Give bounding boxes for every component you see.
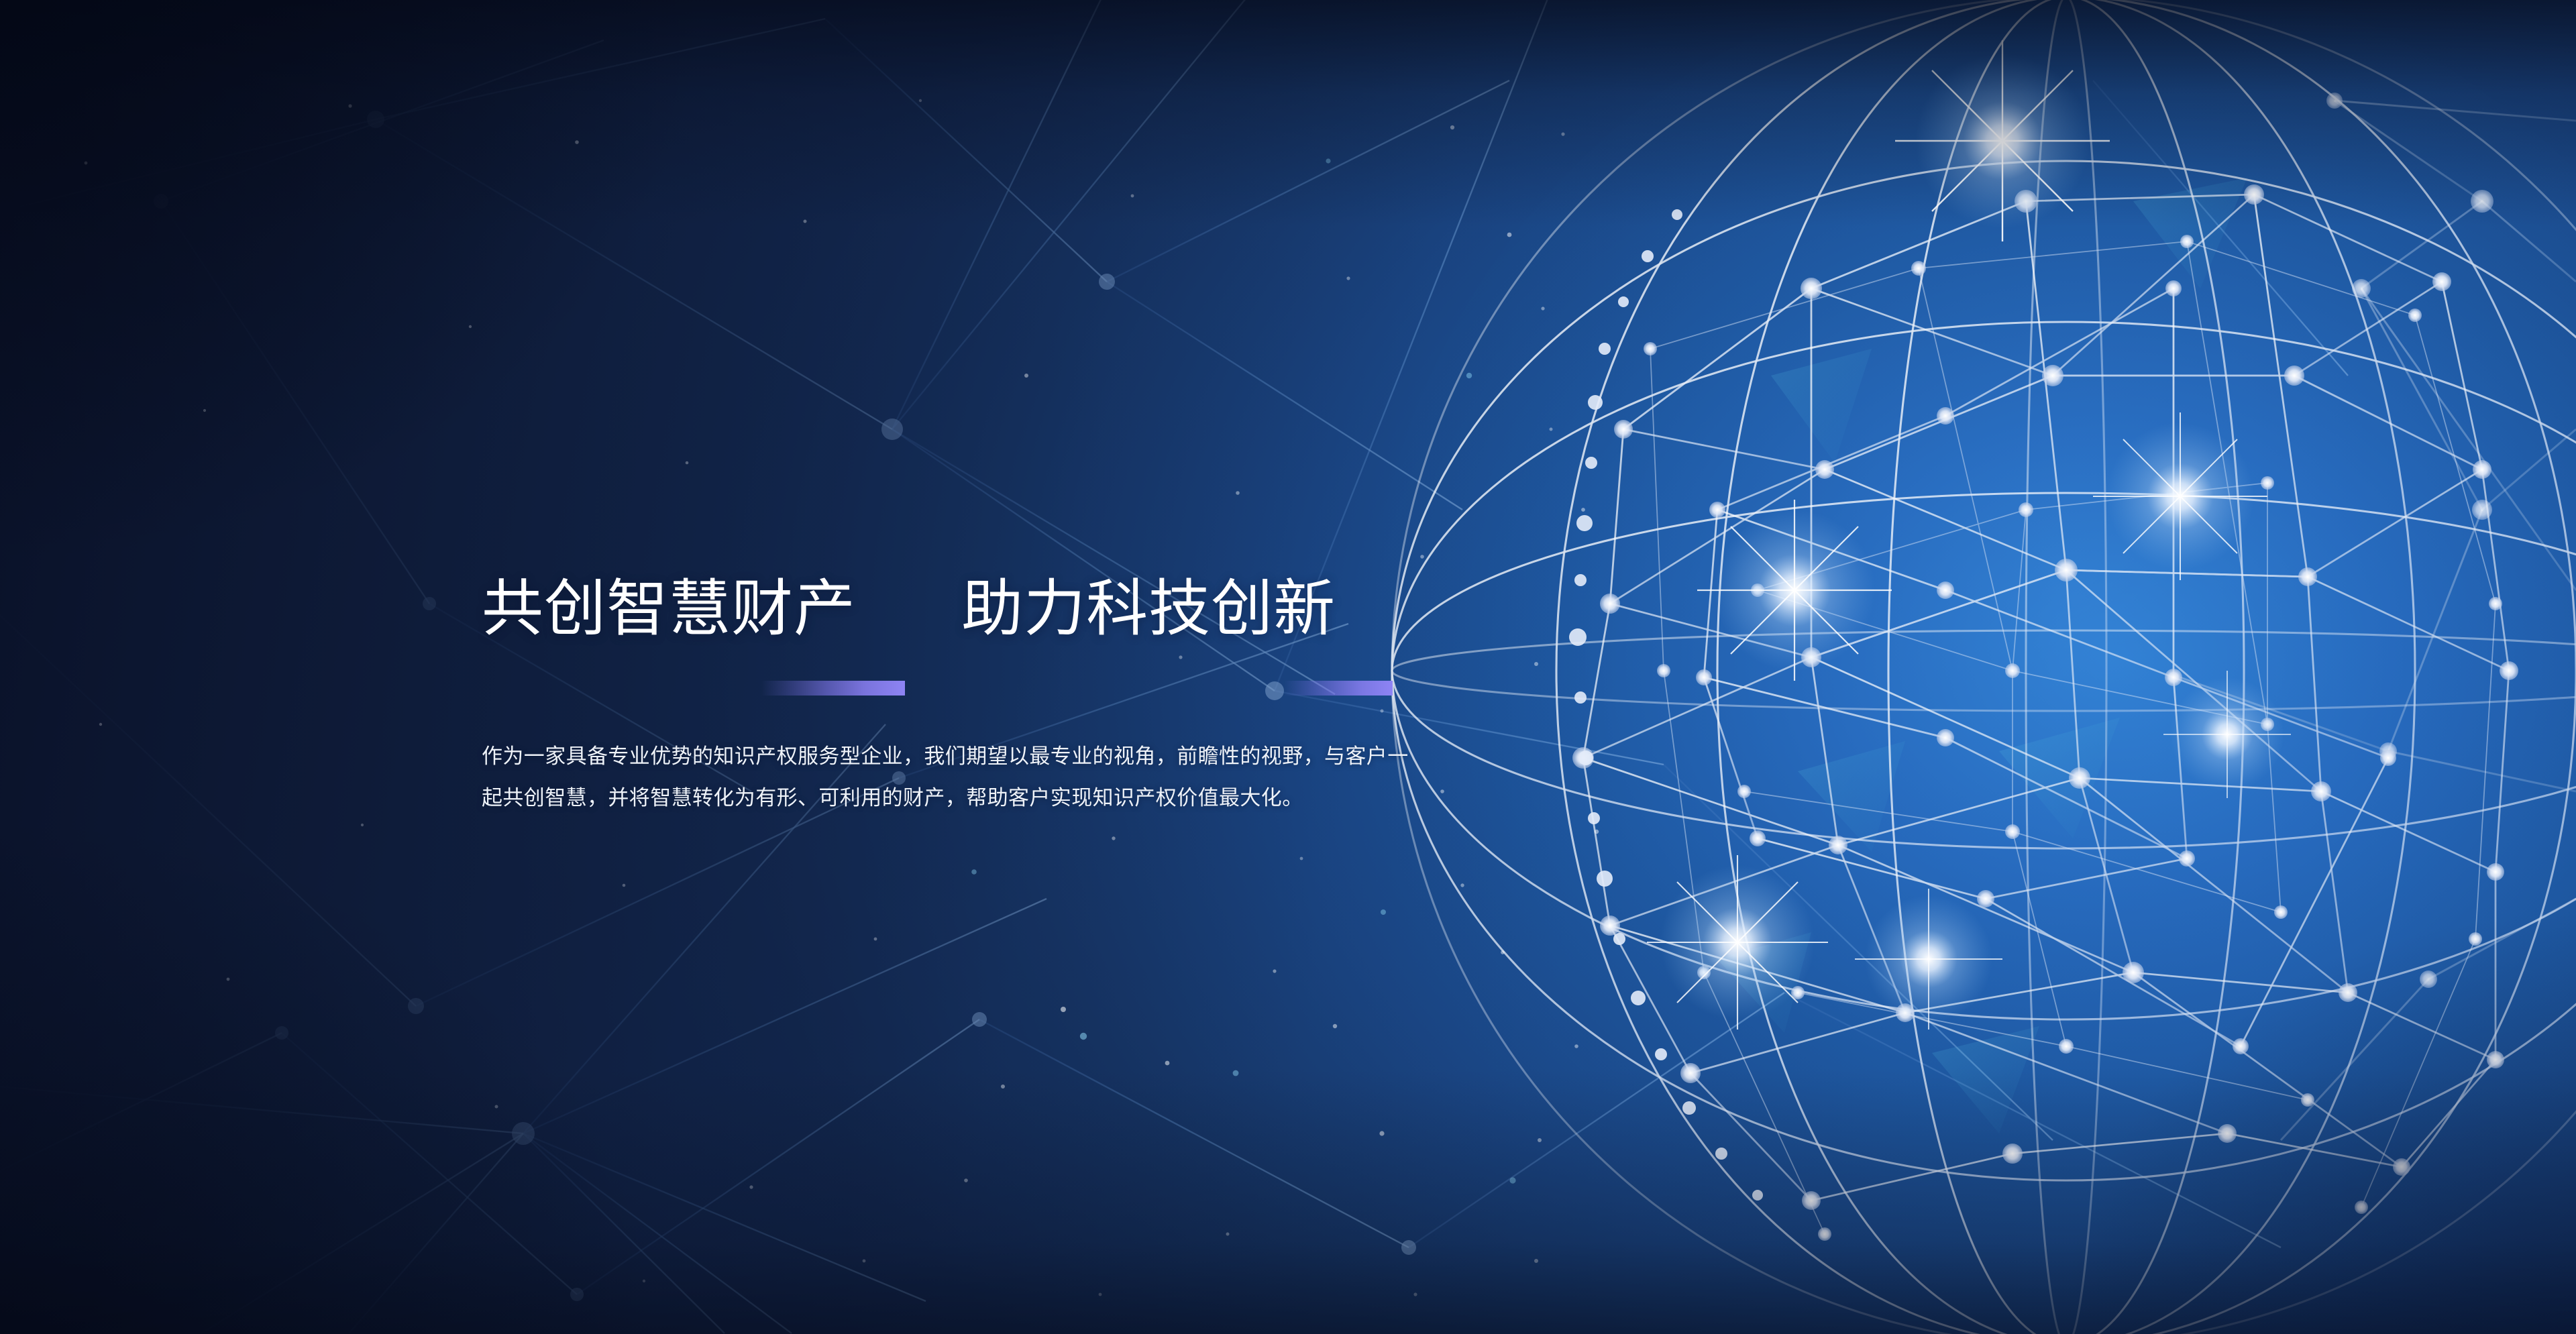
hero-banner: 共创智慧财产 助力科技创新 作为一家具备专业优势的知识产权服务型企业，我们期望以…: [0, 0, 2576, 1334]
headline-phrase-1: 共创智慧财产: [482, 578, 856, 640]
headline-phrase-2: 助力科技创新: [961, 578, 1336, 640]
hero-description: 作为一家具备专业优势的知识产权服务型企业，我们期望以最专业的视角，前瞻性的视野，…: [482, 736, 1421, 819]
hero-content: 共创智慧财产 助力科技创新 作为一家具备专业优势的知识产权服务型企业，我们期望以…: [482, 537, 1488, 840]
accent-underline-caizhan: [761, 681, 905, 696]
page-title: 共创智慧财产 助力科技创新: [482, 578, 1488, 640]
accent-underline-chuangxin: [1284, 681, 1393, 696]
headline-accent-row: [482, 681, 1421, 697]
